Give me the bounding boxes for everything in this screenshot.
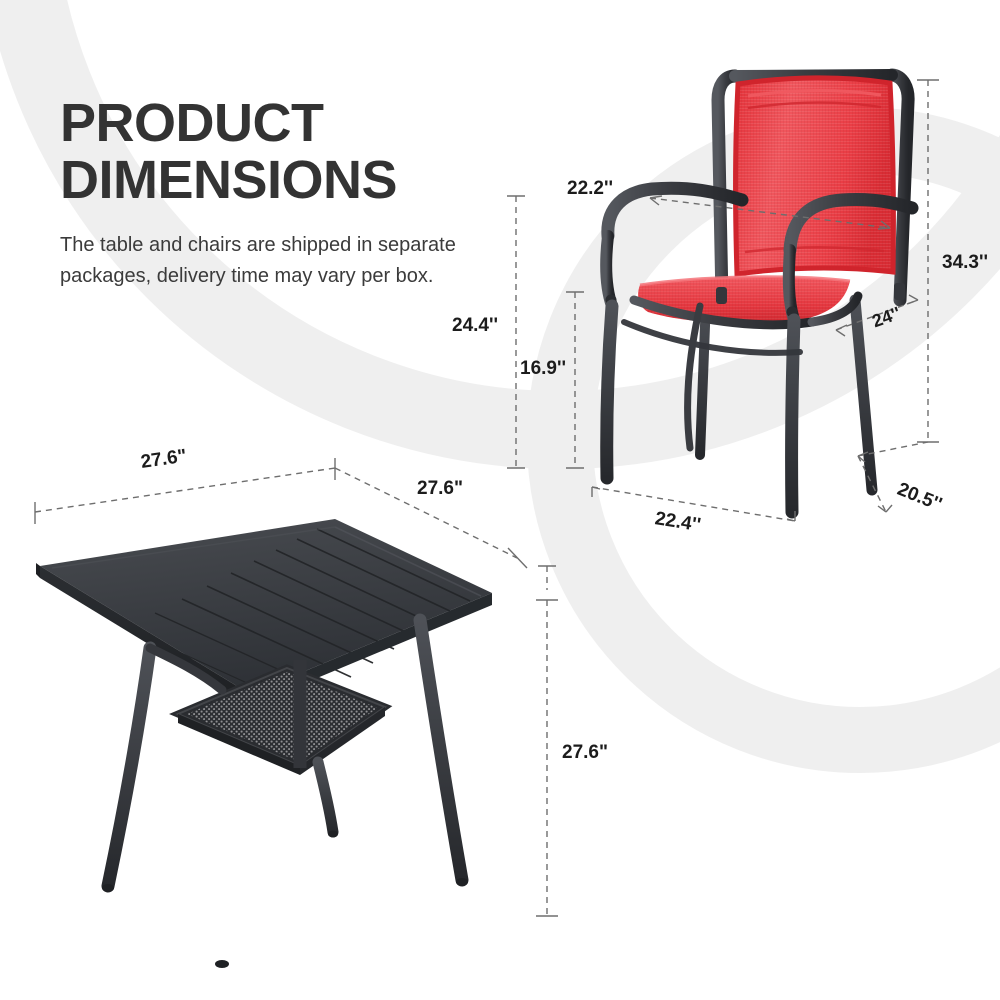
product-dimensions-infographic: PRODUCT DIMENSIONS The table and chairs … (0, 0, 1000, 1000)
dim-label-chair-total-height: 34.3'' (942, 252, 988, 274)
page-subtitle: The table and chairs are shipped in sepa… (60, 230, 460, 292)
text-layer: PRODUCT DIMENSIONS The table and chairs … (0, 0, 1000, 1000)
dim-label-table-top-width: 27.6" (139, 446, 188, 474)
dim-label-chair-width: 22.4'' (653, 508, 702, 537)
dim-label-chair-back-height: 24.4'' (452, 315, 498, 337)
page-title: PRODUCT DIMENSIONS (60, 95, 480, 208)
dim-label-chair-seat-depth: 22.2'' (567, 178, 613, 200)
dim-label-chair-seat-height: 16.9'' (520, 358, 566, 380)
dim-label-table-height: 27.6" (562, 742, 608, 764)
dim-label-chair-arm-width: 24'' (869, 303, 903, 333)
dim-label-table-top-depth: 27.6" (417, 478, 463, 500)
dim-label-chair-depth: 20.5'' (894, 479, 945, 517)
page-title-line2: DIMENSIONS (60, 152, 480, 209)
page-title-line1: PRODUCT (60, 93, 324, 153)
